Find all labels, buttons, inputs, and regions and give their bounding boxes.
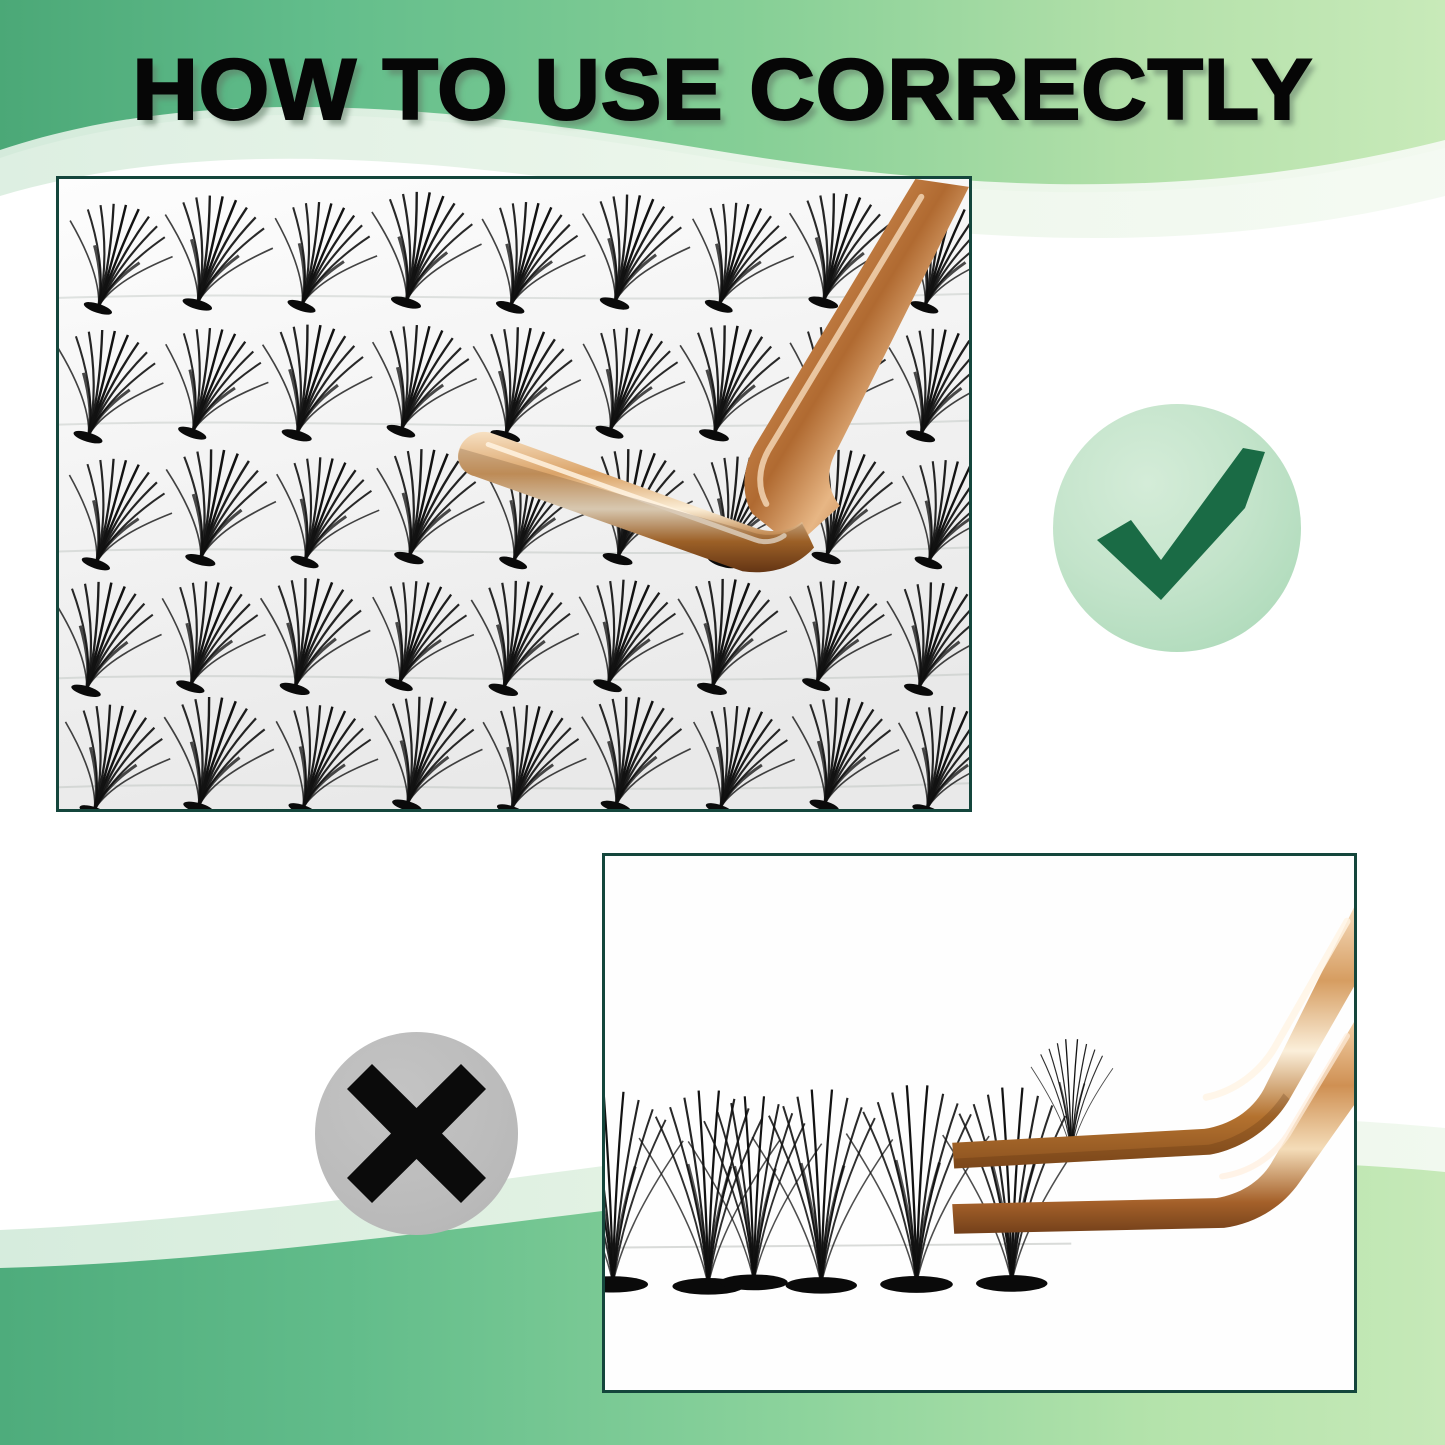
incorrect-usage-photo: [602, 853, 1357, 1393]
status-badge-incorrect: [315, 1032, 518, 1235]
status-badge-correct: [1053, 404, 1301, 652]
lash-tray-topdown-illustration: [59, 179, 969, 809]
cross-icon: [315, 1032, 518, 1235]
lash-side-view-illustration: [605, 856, 1354, 1390]
infographic-poster: HOW TO USE CORRECTLY: [0, 0, 1445, 1445]
page-title: HOW TO USE CORRECTLY: [0, 47, 1445, 133]
correct-usage-photo: [56, 176, 972, 812]
check-icon: [1053, 404, 1301, 652]
